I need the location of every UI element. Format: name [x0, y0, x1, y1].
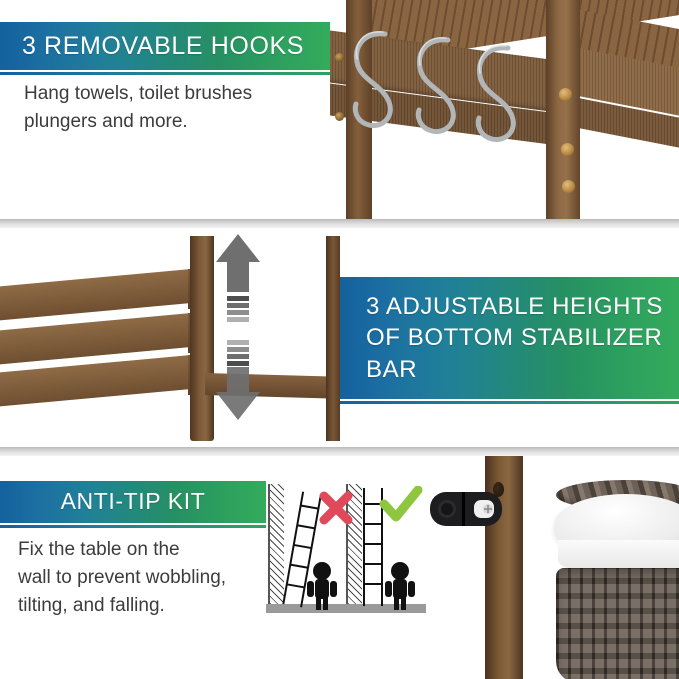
- banner-underline: [0, 525, 266, 528]
- ladder-safety-diagram: [264, 476, 444, 636]
- headline-text: ANTI-TIP KIT: [61, 487, 206, 517]
- person-silhouette-left: [305, 562, 339, 612]
- cross-mark-icon: [316, 488, 356, 528]
- person-silhouette-right: [383, 562, 417, 612]
- check-mark-icon: [378, 486, 424, 526]
- basket-body: [556, 568, 679, 679]
- panel-divider-1: [0, 219, 679, 228]
- headline-text: 3 REMOVABLE HOOKS: [22, 30, 304, 63]
- stabilizer-bar-bottom: [0, 354, 202, 407]
- body-text-hooks: Hang towels, toilet brushes plungers and…: [24, 80, 324, 136]
- headline-banner-adjustable: 3 ADJUSTABLE HEIGHTS OF BOTTOM STABILIZE…: [340, 277, 679, 399]
- headline-banner-antitip: ANTI-TIP KIT: [0, 481, 266, 523]
- panel-divider-2: [0, 447, 679, 456]
- body-text-antitip: Fix the table on the wall to prevent wob…: [18, 536, 263, 620]
- banner-underline: [0, 72, 330, 75]
- stabilizer-bar-top: [0, 268, 202, 321]
- stabilizer-bar-photo: [0, 228, 340, 447]
- panel-anti-tip-kit: ANTI-TIP KIT Fix the table on the wall t…: [0, 456, 679, 679]
- wicker-basket: [548, 468, 679, 679]
- s-hooks-group: [330, 0, 679, 219]
- headline-banner-hooks: 3 REMOVABLE HOOKS: [0, 22, 330, 70]
- product-infographic: 3 REMOVABLE HOOKS Hang towels, toilet br…: [0, 0, 679, 679]
- anti-tip-bracket-icon: [428, 488, 508, 538]
- hooks-photo: [330, 0, 679, 219]
- panel-adjustable-heights: 3 ADJUSTABLE HEIGHTS OF BOTTOM STABILIZE…: [0, 228, 679, 447]
- anti-tip-hardware: [425, 456, 545, 679]
- headline-text: 3 ADJUSTABLE HEIGHTS OF BOTTOM STABILIZE…: [366, 291, 663, 385]
- arrow-down-icon: [210, 340, 330, 447]
- panel-removable-hooks: 3 REMOVABLE HOOKS Hang towels, toilet br…: [0, 0, 679, 219]
- banner-underline: [340, 401, 679, 404]
